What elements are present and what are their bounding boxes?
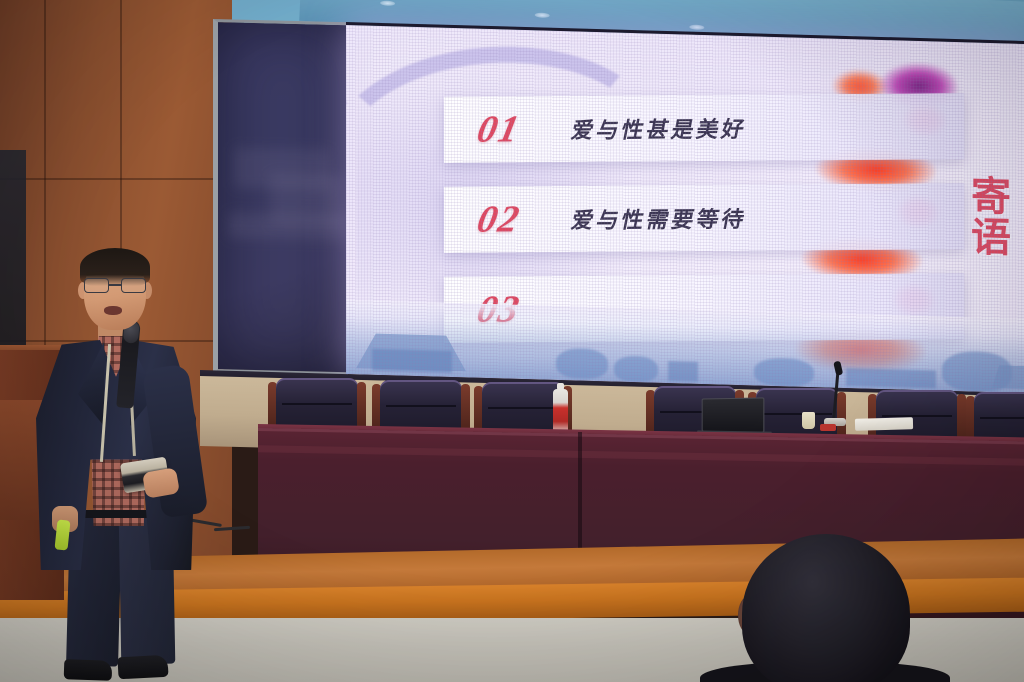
presenter-shoe [64, 659, 113, 681]
landscape-structure [668, 361, 698, 382]
slide-item-01: 01 爱与性甚是美好 [444, 93, 964, 163]
audience-head [742, 534, 910, 682]
landscape-tree [556, 348, 608, 379]
presenter-shoe [117, 655, 168, 680]
slide-item-number: 02 [473, 197, 524, 241]
lecture-hall-scene: 01 爱与性甚是美好 02 爱与性需要等待 03 寄语 [0, 0, 1024, 682]
document-stack [855, 417, 913, 431]
slide-item-number: 01 [473, 107, 524, 151]
downlight-icon [689, 24, 704, 30]
slide-item-text: 爱与性甚是美好 [569, 112, 750, 145]
downlight-icon [380, 0, 395, 6]
landscape-tree [614, 355, 658, 382]
desk-red-object [820, 424, 836, 431]
slide-item-text: 爱与性需要等待 [569, 202, 750, 235]
dark-display-panel [213, 19, 348, 377]
led-presentation-screen: 01 爱与性甚是美好 02 爱与性需要等待 03 寄语 [346, 22, 1024, 393]
presenter-mouth [104, 306, 122, 315]
landscape-structure [372, 349, 452, 373]
eyeglasses-icon [84, 278, 146, 293]
slide-section-title: 寄语 [965, 174, 1008, 257]
downlight-icon [535, 12, 550, 18]
presenter [26, 248, 206, 682]
water-bottle [553, 389, 568, 434]
slide-item-02: 02 爱与性需要等待 [444, 183, 964, 253]
laptop [702, 397, 765, 432]
paper-cup [802, 412, 815, 429]
